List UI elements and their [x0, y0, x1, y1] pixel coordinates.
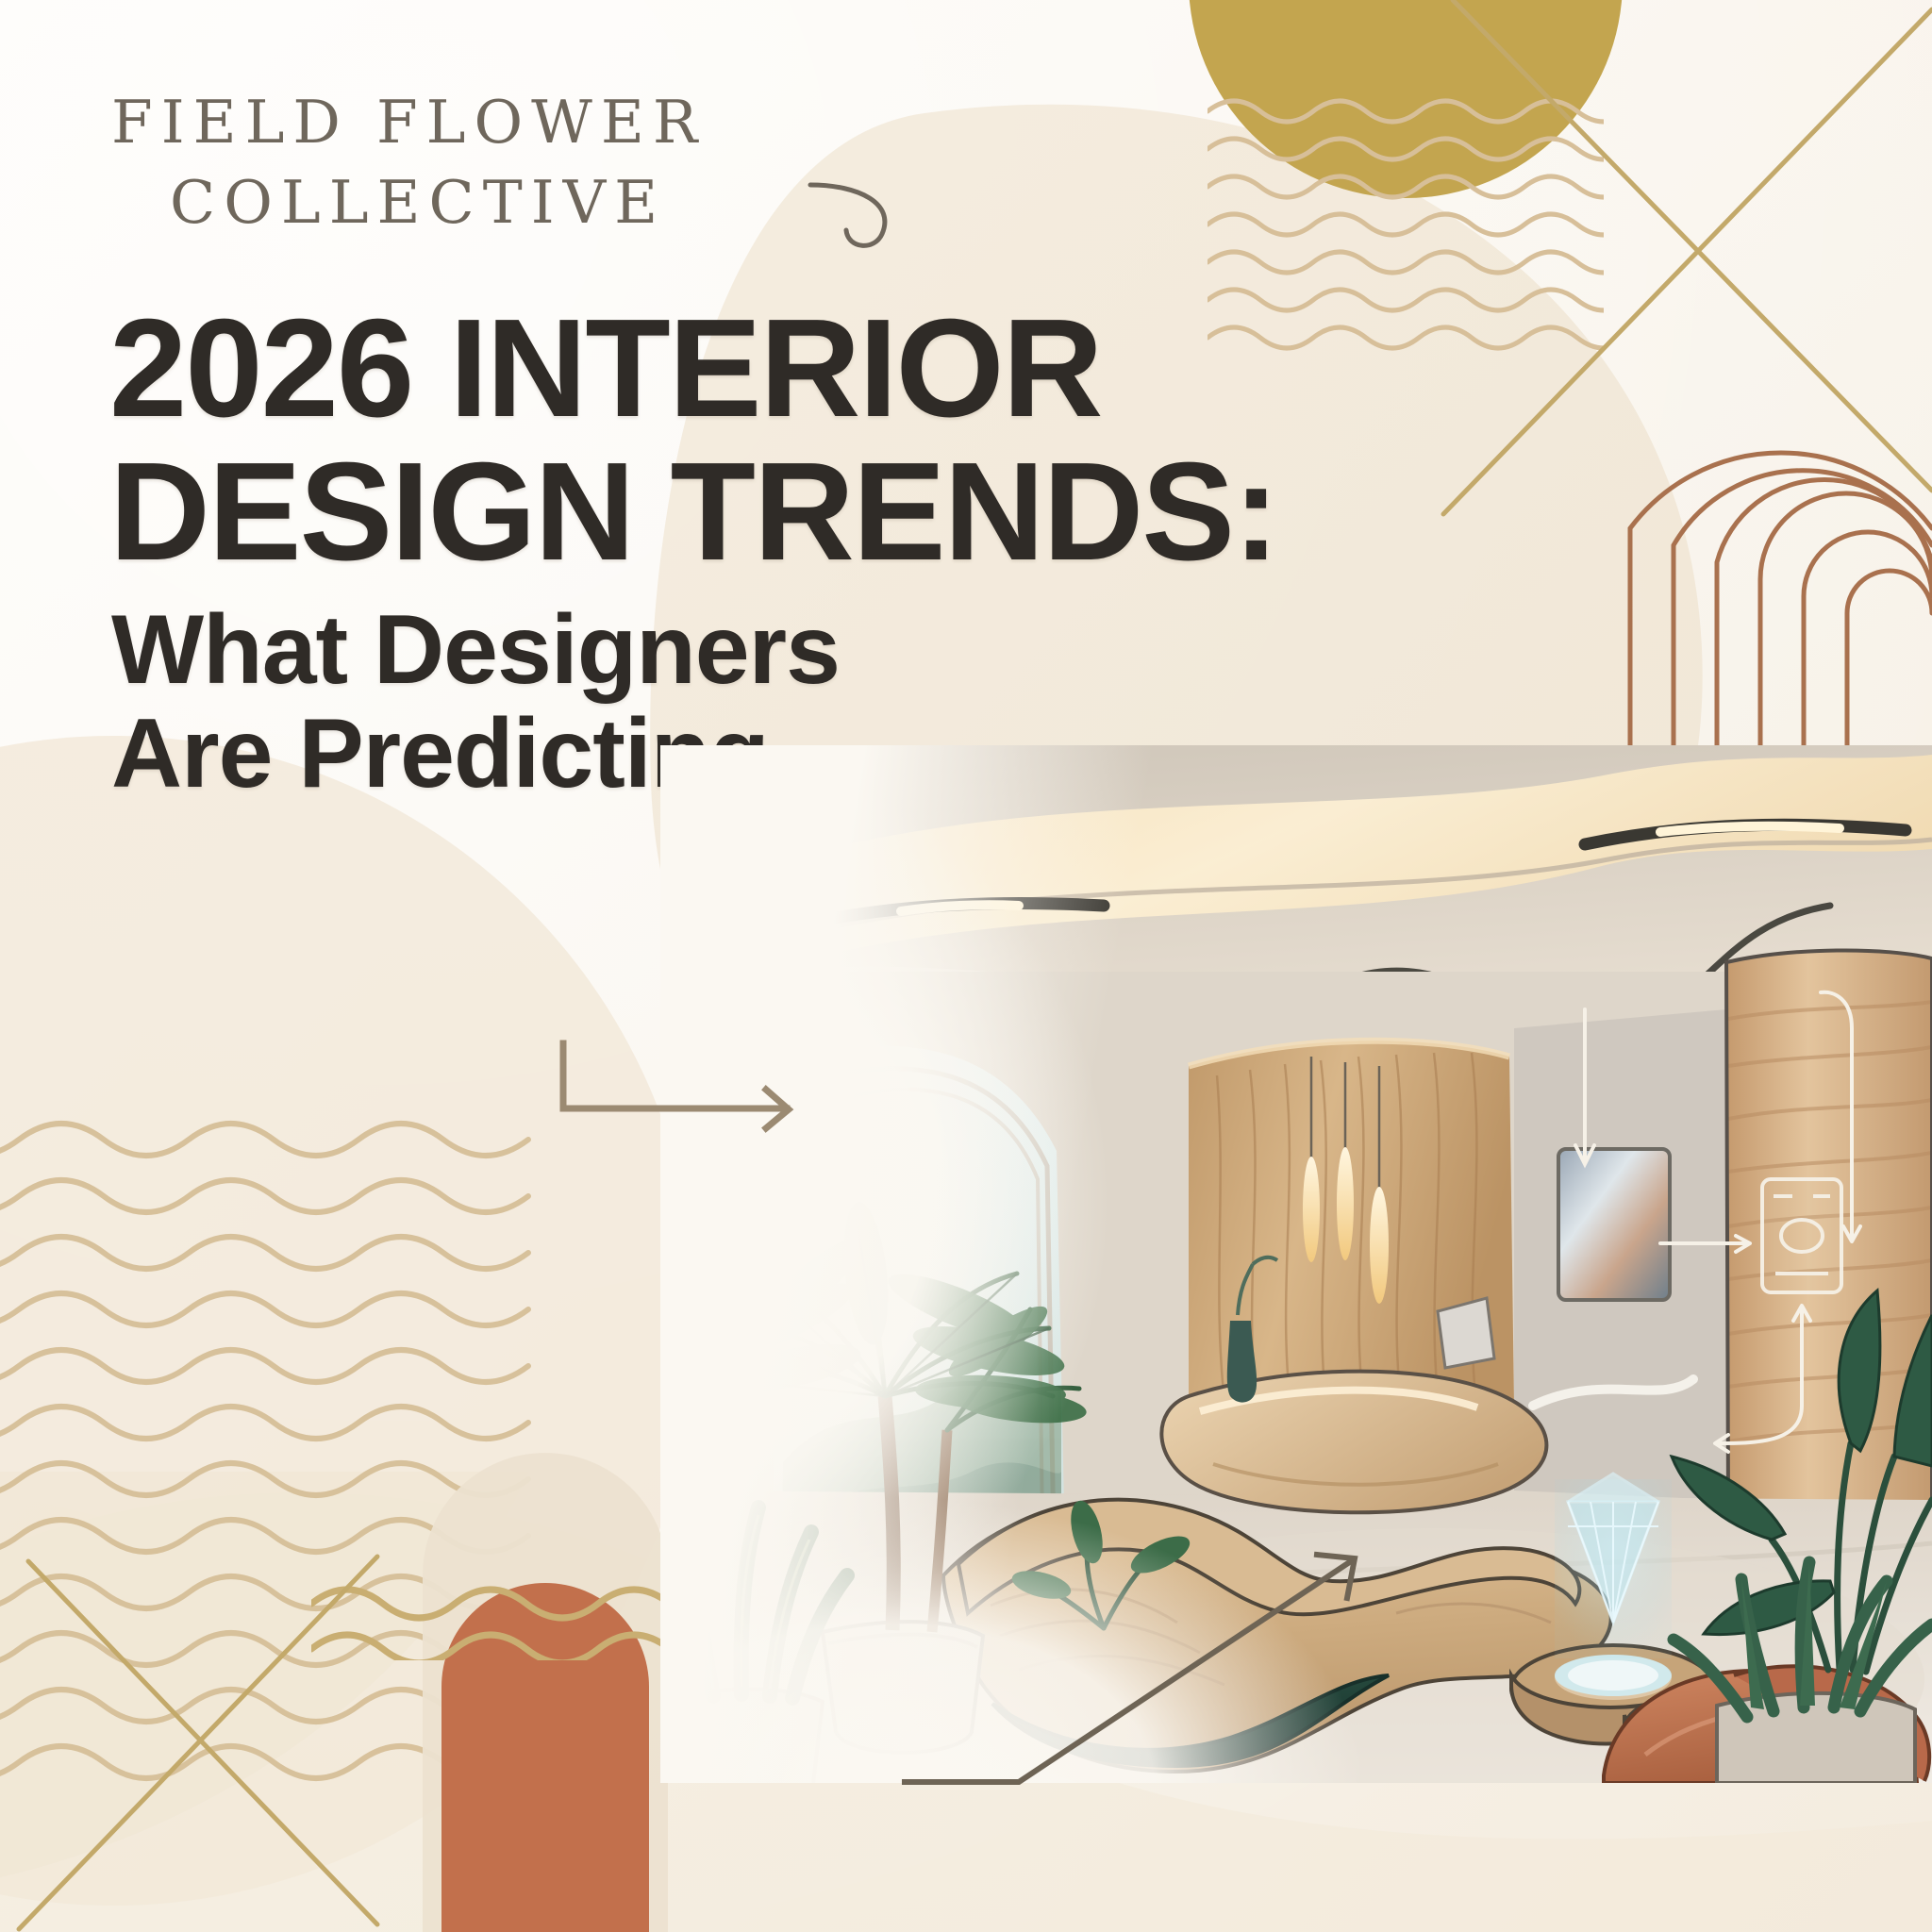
hologram-diamond	[1555, 1474, 1672, 1696]
hero-image	[660, 745, 1932, 1783]
page-title: 2026 INTERIOR DESIGN TRENDS:	[109, 302, 1260, 579]
smart-control-panel	[1762, 1179, 1841, 1292]
brand-line-2: COLLECTIVE	[170, 173, 885, 232]
laptop	[1438, 1298, 1494, 1368]
flourish-swash-icon	[805, 179, 908, 264]
interior-illustration	[660, 745, 1932, 1783]
wall-art-panel	[1558, 1149, 1670, 1300]
headline-line-2: DESIGN TRENDS:	[109, 445, 1260, 579]
subheadline-line-1: What Designers	[111, 598, 1055, 702]
headline-line-1: 2026 INTERIOR	[109, 302, 1260, 436]
brand-logo: FIELD FLOWER COLLECTIVE	[111, 92, 885, 232]
brand-line-1: FIELD FLOWER	[111, 92, 706, 152]
poster-canvas: FIELD FLOWER COLLECTIVE 2026 INTERIOR DE…	[0, 0, 1932, 1932]
